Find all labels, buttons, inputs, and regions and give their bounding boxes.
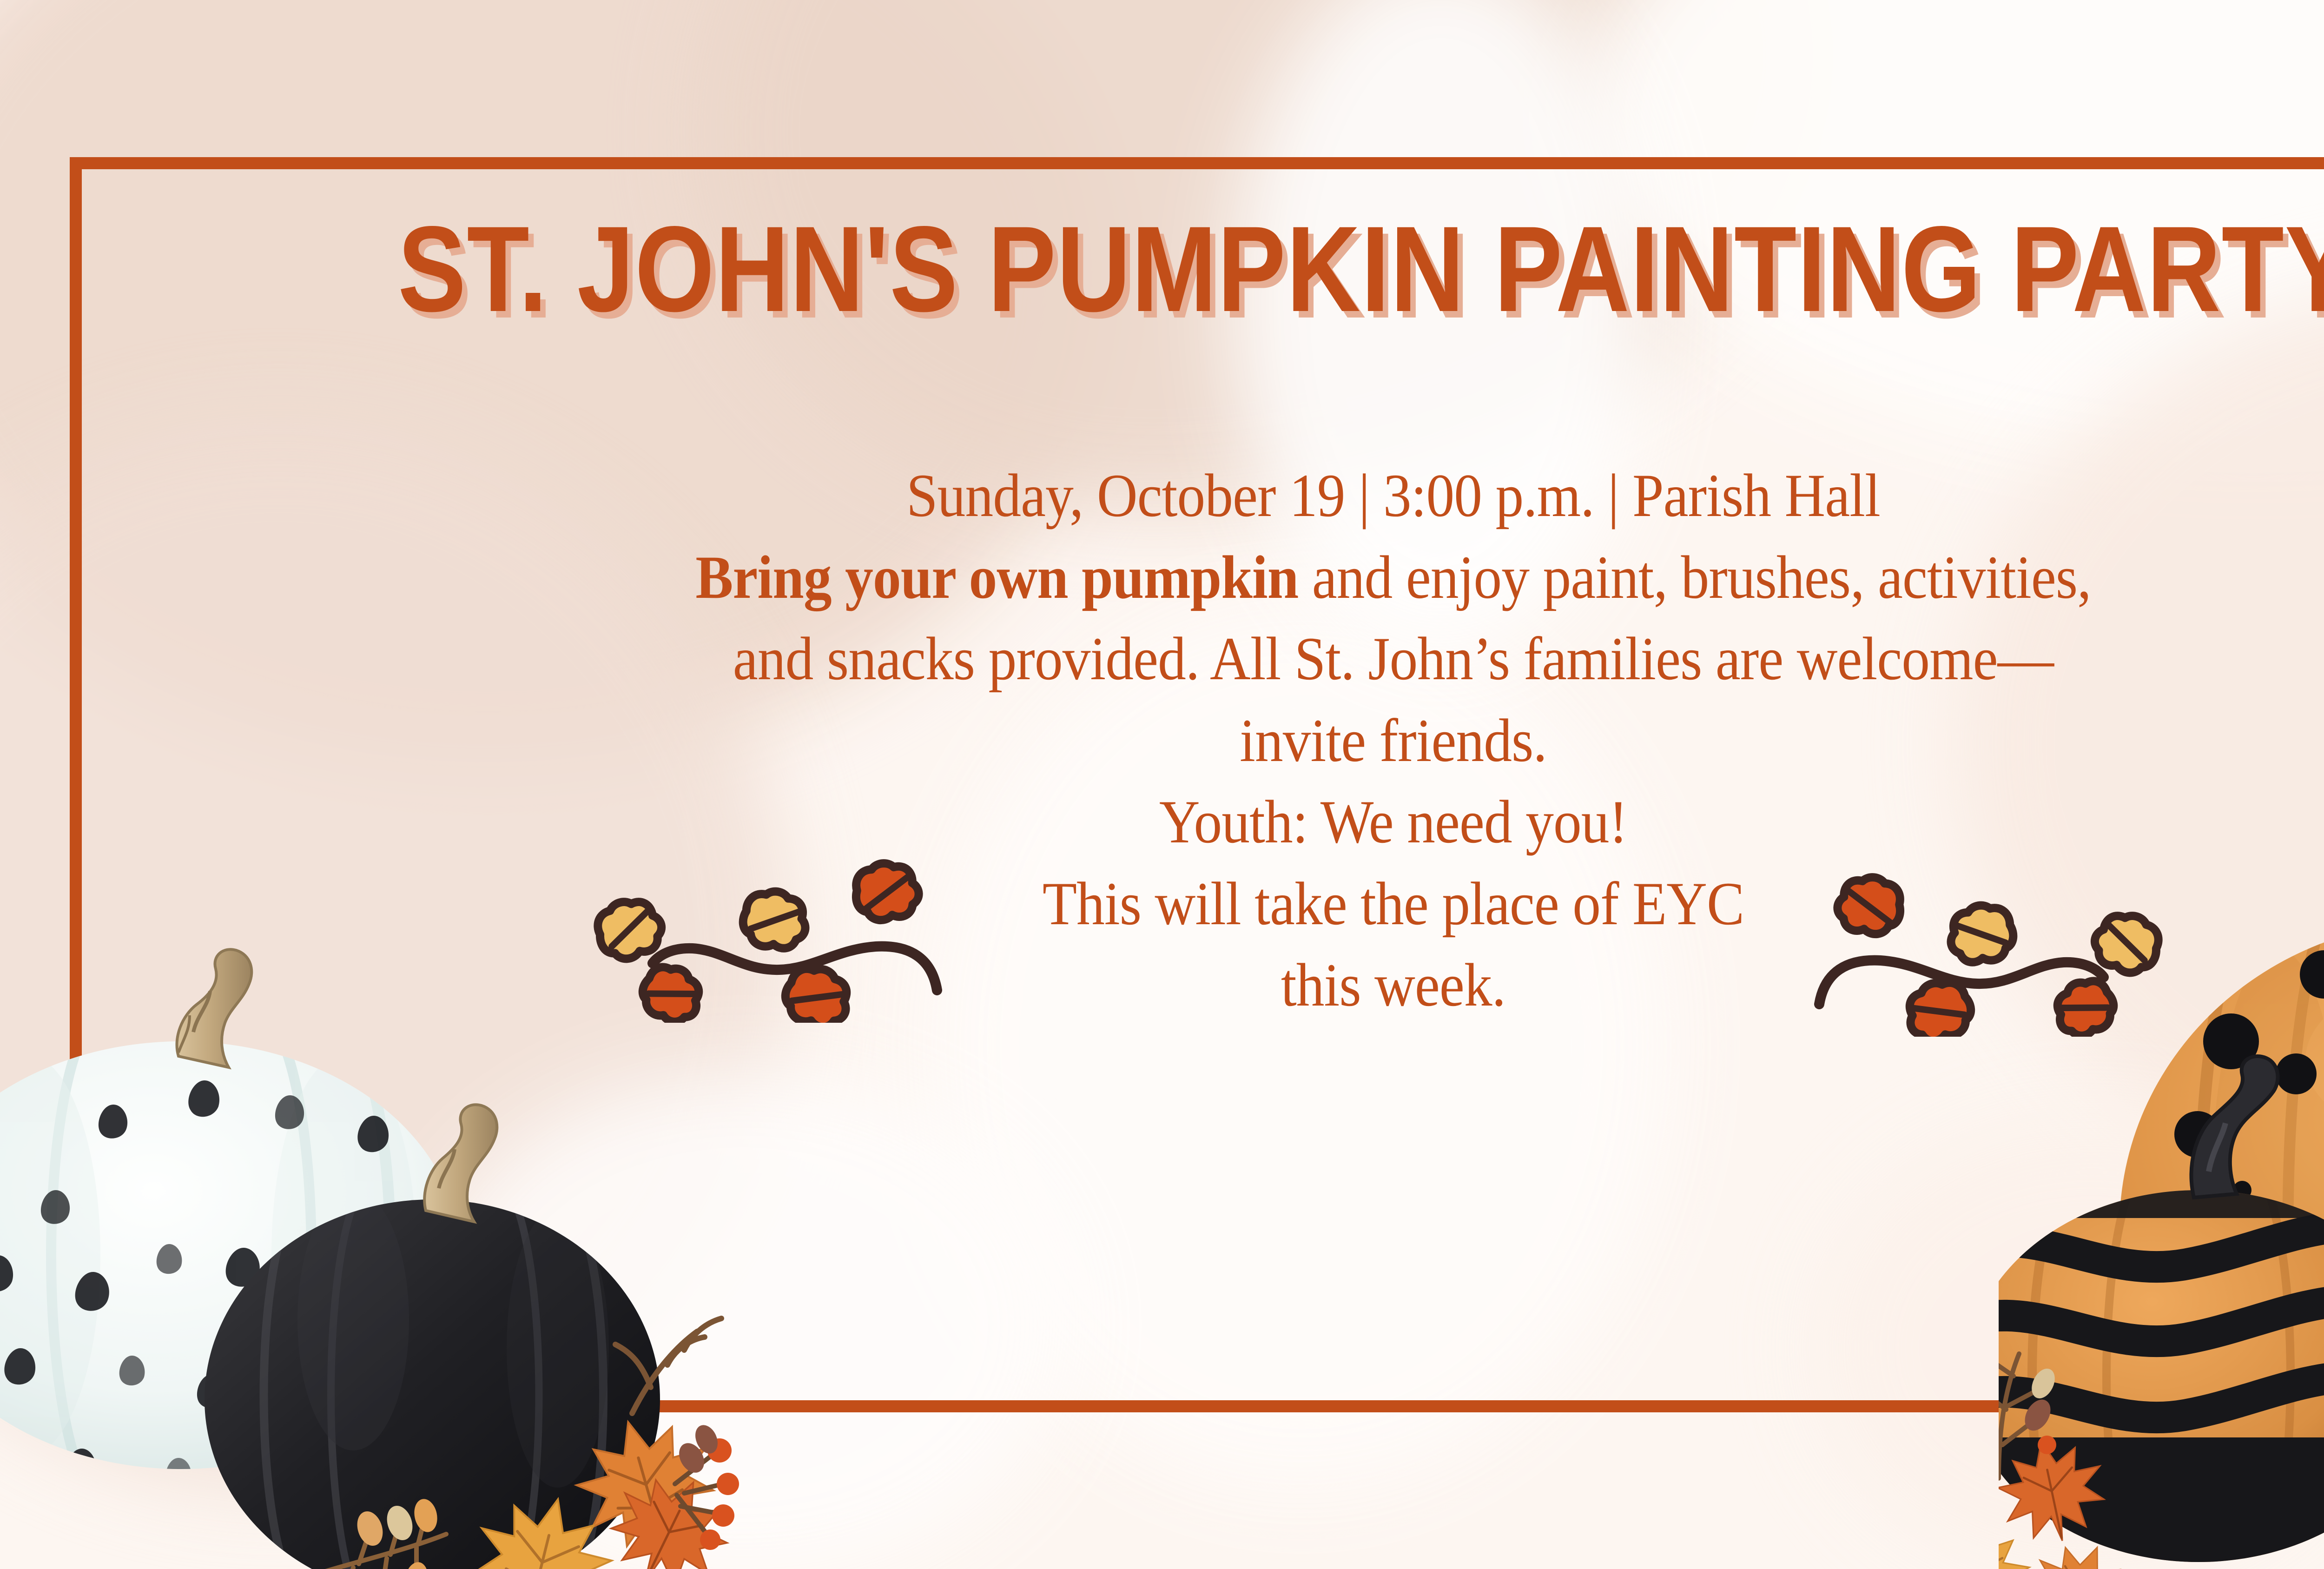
line-1: Sunday, October 19 | 3:00 p.m. | Parish …: [176, 455, 2324, 536]
body-text: invite friends.: [1240, 706, 1547, 775]
body-text: this week.: [1281, 951, 1505, 1019]
body-text: Sunday, October 19 | 3:00 p.m. | Parish …: [906, 461, 1880, 530]
emphasis-text: Bring your own pumpkin: [695, 543, 1298, 611]
oak-leaf-branch-icon: [1789, 860, 2189, 1037]
poster-canvas: ST. JOHN'S PUMPKIN PAINTING PARTY! Sunda…: [0, 0, 2324, 1569]
content-area: ST. JOHN'S PUMPKIN PAINTING PARTY! Sunda…: [70, 157, 2324, 1412]
page-title: ST. JOHN'S PUMPKIN PAINTING PARTY!: [282, 208, 2324, 330]
body-text: and snacks provided. All St. John’s fami…: [733, 624, 2053, 693]
line-2: Bring your own pumpkin and enjoy paint, …: [176, 536, 2324, 618]
line-3: and snacks provided. All St. John’s fami…: [176, 618, 2324, 700]
oak-leaf-branch-icon: [567, 846, 967, 1023]
line-4: invite friends.: [176, 700, 2324, 781]
body-text: This will take the place of EYC: [1043, 869, 1744, 938]
body-text: and enjoy paint, brushes, activities,: [1298, 543, 2091, 611]
body-text: Youth: We need you!: [1159, 788, 1627, 856]
line-5: Youth: We need you!: [176, 781, 2324, 863]
